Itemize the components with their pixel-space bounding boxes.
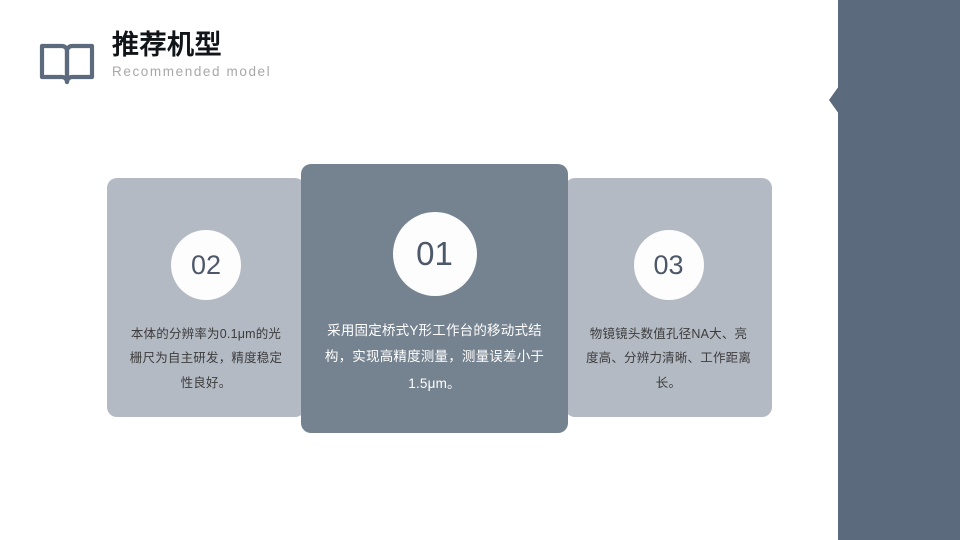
card-description-01: 采用固定桥式Y形工作台的移动式结构，实现高精度测量，测量误差小于1.5μm。 bbox=[323, 318, 547, 397]
header-text-block: 推荐机型 Recommended model bbox=[112, 30, 271, 79]
card-number-label: 01 bbox=[416, 235, 453, 273]
card-number-badge-03: 03 bbox=[634, 230, 704, 300]
slide-header: 推荐机型 Recommended model bbox=[38, 30, 271, 88]
card-number-label: 03 bbox=[653, 250, 683, 281]
slide-canvas: 推荐机型 Recommended model 02 本体的分辨率为0.1μm的光… bbox=[0, 0, 960, 540]
feature-card-03[interactable]: 03 物镜镜头数值孔径NA大、亮度高、分辨力清晰、工作距离长。 bbox=[565, 178, 772, 417]
card-number-label: 02 bbox=[191, 250, 221, 281]
page-subtitle: Recommended model bbox=[112, 64, 271, 79]
card-description-02: 本体的分辨率为0.1μm的光栅尺为自主研发，精度稳定性良好。 bbox=[126, 322, 286, 395]
card-description-03: 物镜镜头数值孔径NA大、亮度高、分辨力清晰、工作距离长。 bbox=[585, 322, 753, 395]
page-title: 推荐机型 bbox=[112, 30, 271, 61]
feature-card-02[interactable]: 02 本体的分辨率为0.1μm的光栅尺为自主研发，精度稳定性良好。 bbox=[107, 178, 305, 417]
open-book-icon bbox=[38, 40, 96, 88]
card-number-badge-02: 02 bbox=[171, 230, 241, 300]
right-accent-panel bbox=[838, 0, 960, 540]
card-number-badge-01: 01 bbox=[393, 212, 477, 296]
panel-notch-arrow-icon bbox=[829, 86, 839, 114]
feature-card-01[interactable]: 01 采用固定桥式Y形工作台的移动式结构，实现高精度测量，测量误差小于1.5μm… bbox=[301, 164, 568, 433]
